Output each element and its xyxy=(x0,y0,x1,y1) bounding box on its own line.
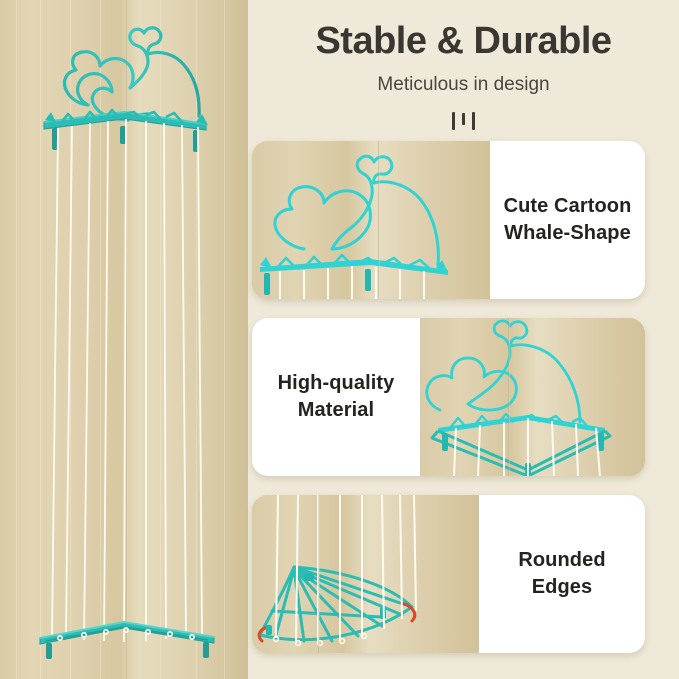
card3-rack-underside-illustration xyxy=(252,495,479,653)
card1-whale-illustration xyxy=(252,141,490,299)
feature-card-cute-cartoon-whale-shape[interactable]: Cute CartoonWhale-Shape xyxy=(252,141,645,299)
card1-photo xyxy=(252,141,490,299)
card1-label: Cute CartoonWhale-Shape xyxy=(504,193,632,247)
page-subtitle: Meticulous in design xyxy=(248,74,679,96)
feature-card-high-quality-material[interactable]: High-qualityMaterial xyxy=(252,318,645,476)
page-title: Stable & Durable xyxy=(248,22,679,62)
card2-photo xyxy=(420,318,645,476)
hero-product-illustration xyxy=(0,0,248,679)
hanging-cords xyxy=(52,119,202,642)
card3-label: RoundedEdges xyxy=(518,547,605,601)
infographic-canvas: Stable & Durable Meticulous in design xyxy=(0,0,679,679)
feature-card-rounded-edges[interactable]: RoundedEdges xyxy=(252,495,645,653)
card2-rack-illustration xyxy=(420,318,645,476)
card3-photo xyxy=(252,495,479,653)
card1-text-panel: Cute CartoonWhale-Shape xyxy=(490,141,645,299)
card3-text-panel: RoundedEdges xyxy=(479,495,645,653)
card2-text-panel: High-qualityMaterial xyxy=(252,318,420,476)
three-bar-divider-icon xyxy=(248,106,679,130)
whale-wire-outline xyxy=(64,28,202,120)
card2-label: High-qualityMaterial xyxy=(278,370,395,424)
